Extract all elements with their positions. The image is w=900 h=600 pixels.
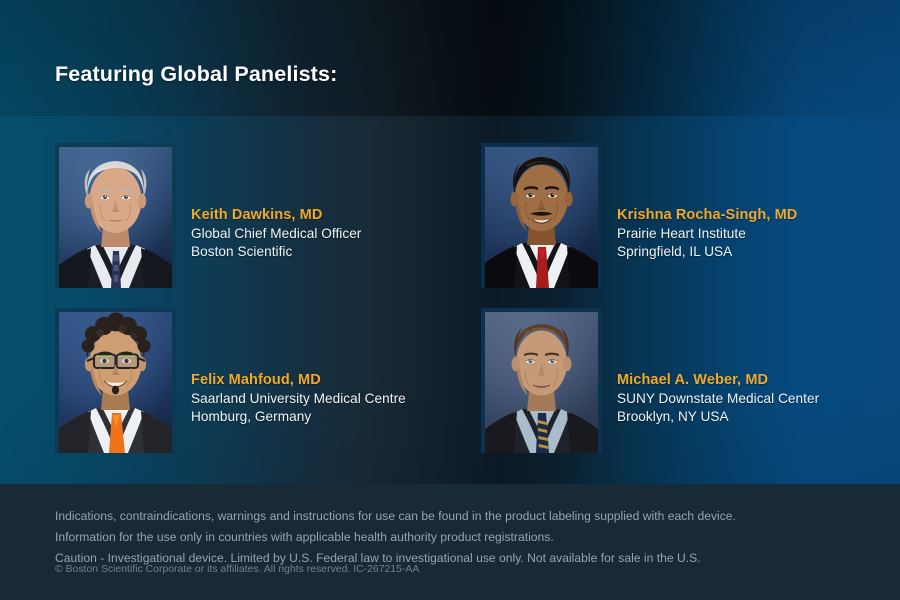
legal-disclaimer: Indications, contraindications, warnings…	[55, 506, 736, 568]
panelist-card: Krishna Rocha-Singh, MD Prairie Heart In…	[481, 143, 797, 288]
legal-line: Indications, contraindications, warnings…	[55, 506, 736, 527]
panelist-location: Springfield, IL USA	[617, 243, 797, 261]
legal-line: Information for the use only in countrie…	[55, 527, 736, 548]
panelist-name: Michael A. Weber, MD	[617, 371, 819, 390]
panelist-info: Michael A. Weber, MD SUNY Downstate Medi…	[617, 308, 819, 426]
panelist-info: Krishna Rocha-Singh, MD Prairie Heart In…	[617, 143, 797, 261]
avatar	[481, 308, 602, 453]
copyright-notice: © Boston Scientific Corporate or its aff…	[55, 564, 419, 575]
avatar	[481, 143, 602, 288]
panelist-affiliation: Global Chief Medical Officer	[191, 225, 361, 243]
background-top-shade	[0, 0, 900, 116]
panelist-card: Keith Dawkins, MD Global Chief Medical O…	[55, 143, 361, 288]
avatar	[55, 308, 176, 453]
footer-band: Indications, contraindications, warnings…	[0, 484, 900, 600]
panelist-name: Keith Dawkins, MD	[191, 206, 361, 225]
panelist-affiliation: Saarland University Medical Centre	[191, 390, 406, 408]
panelist-card: Felix Mahfoud, MD Saarland University Me…	[55, 308, 406, 453]
panelist-location: Homburg, Germany	[191, 408, 406, 426]
panelist-affiliation: SUNY Downstate Medical Center	[617, 390, 819, 408]
panelist-info: Felix Mahfoud, MD Saarland University Me…	[191, 308, 406, 426]
panelist-name: Felix Mahfoud, MD	[191, 371, 406, 390]
panelist-info: Keith Dawkins, MD Global Chief Medical O…	[191, 143, 361, 261]
panelist-card: Michael A. Weber, MD SUNY Downstate Medi…	[481, 308, 819, 453]
panelist-location: Brooklyn, NY USA	[617, 408, 819, 426]
panelist-affiliation: Prairie Heart Institute	[617, 225, 797, 243]
presentation-slide: Featuring Global Panelists:	[0, 0, 900, 600]
panelist-location: Boston Scientific	[191, 243, 361, 261]
panelist-name: Krishna Rocha-Singh, MD	[617, 206, 797, 225]
avatar	[55, 143, 176, 288]
page-title: Featuring Global Panelists:	[55, 62, 337, 87]
